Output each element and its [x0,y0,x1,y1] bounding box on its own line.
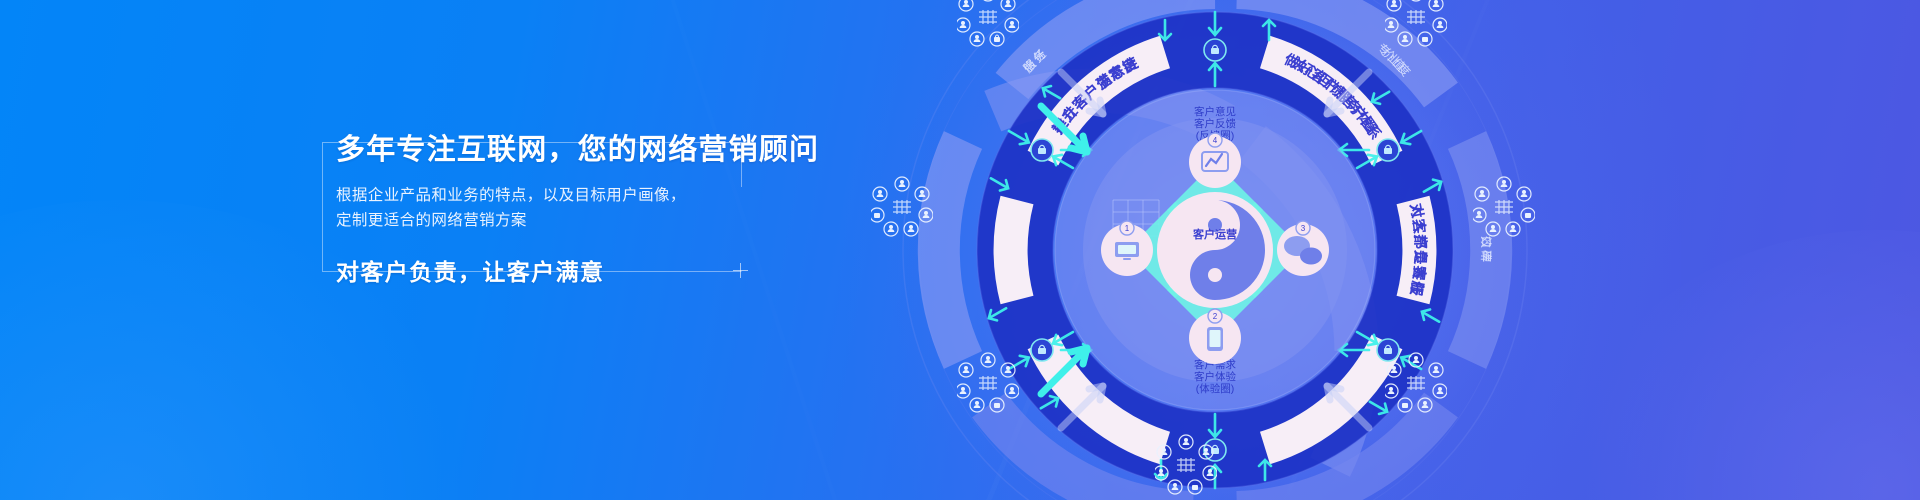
banner-subtext: 根据企业产品和业务的特点，以及目标用户画像， 定制更适合的网络营销方案 [336,184,896,233]
svg-text:2: 2 [1213,312,1218,321]
background-glow-far-right [1560,230,1920,500]
marketing-banner: 多年专注互联网，您的网络营销顾问 根据企业产品和业务的特点，以及目标用户画像， … [0,0,1920,500]
wheel-graphic: 信任 专业度 口碑 效率 价值 服务 [865,0,1565,500]
svg-text:客户意见: 客户意见 [1194,105,1236,118]
svg-text:客户体验: 客户体验 [1194,370,1236,383]
svg-text:(体验圈): (体验圈) [1196,382,1235,395]
svg-text:3: 3 [1301,224,1306,233]
hub-label: 客户运营 [1192,227,1237,241]
banner-copy: 多年专注互联网，您的网络营销顾问 根据企业产品和业务的特点，以及目标用户画像， … [336,132,896,287]
banner-slogan: 对客户负责，让客户满意 [336,253,896,287]
banner-subtext-line-2: 定制更适合的网络营销方案 [336,209,896,233]
banner-subtext-line-1: 根据企业产品和业务的特点，以及目标用户画像， [336,184,896,208]
customer-operation-wheel: 信任 专业度 口碑 效率 价值 服务 [865,0,1565,500]
svg-text:客户反馈: 客户反馈 [1194,117,1236,130]
svg-text:1: 1 [1125,224,1130,233]
banner-headline: 多年专注互联网，您的网络营销顾问 [336,132,896,168]
svg-text:4: 4 [1213,136,1218,145]
